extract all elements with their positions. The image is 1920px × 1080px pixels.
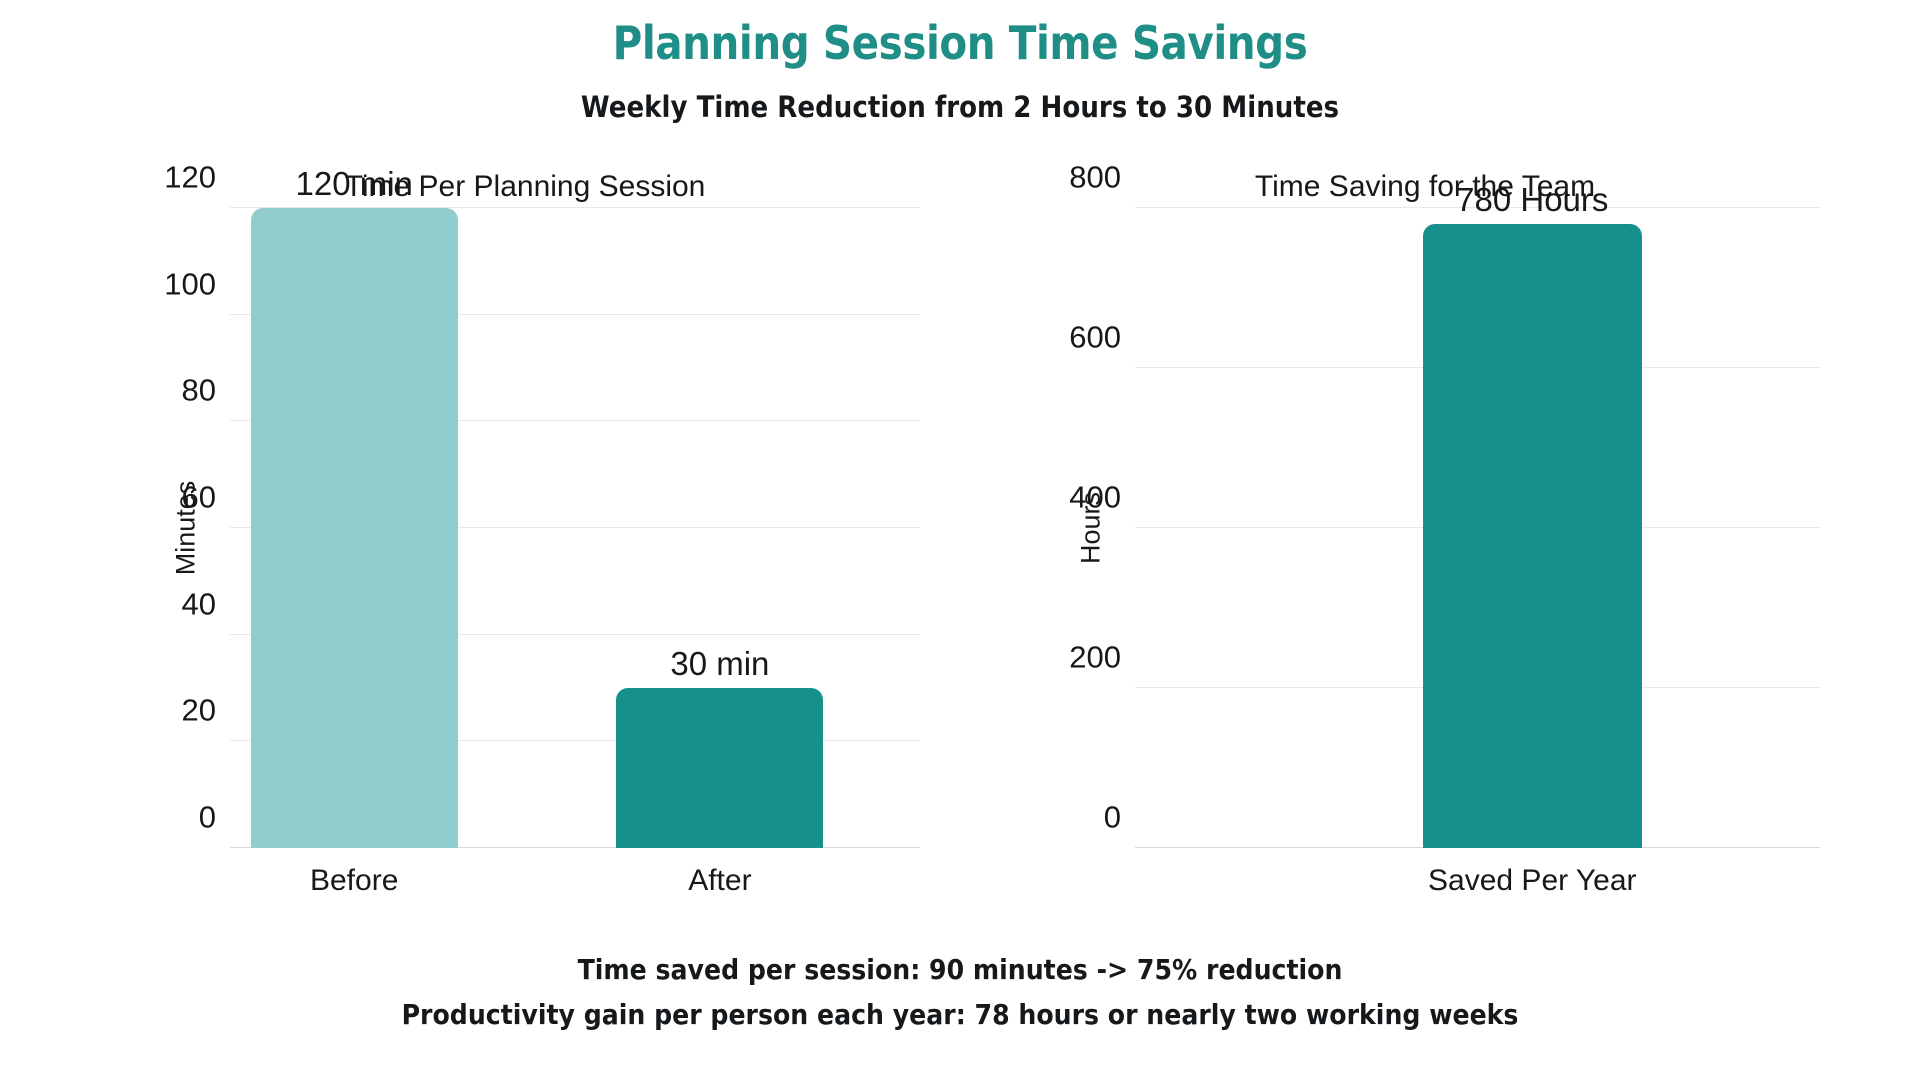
ytick-left-80: 80 — [182, 375, 216, 406]
chart-panel-team-saving: Time Saving for the Team 800 600 400 200… — [1020, 150, 1830, 930]
page-subtitle: Weekly Time Reduction from 2 Hours to 30… — [96, 90, 1824, 124]
bar-value-after: 30 min — [670, 647, 769, 680]
ytick-left-40: 40 — [182, 588, 216, 619]
ytick-right-200: 200 — [1069, 642, 1121, 673]
ytick-left-0: 0 — [199, 802, 216, 833]
ytick-right-600: 600 — [1069, 322, 1121, 353]
ytick-left-20: 20 — [182, 695, 216, 726]
chart-panel-time-per-session: Time Per Planning Session 120 100 80 60 … — [120, 150, 930, 930]
y-axis-label-hours: Hours — [1076, 492, 1107, 564]
ytick-right-800: 800 — [1069, 162, 1121, 193]
bar-saved-per-year[interactable]: 780 Hours Saved Per Year — [1423, 224, 1642, 848]
bar-value-before: 120 min — [295, 167, 412, 200]
footnote-productivity-gain: Productivity gain per person each year: … — [96, 993, 1824, 1038]
footnote-time-saved: Time saved per session: 90 minutes -> 75… — [96, 948, 1824, 993]
bar-before[interactable]: 120 min Before — [251, 208, 458, 848]
y-axis-label-minutes: Minutes — [171, 481, 202, 576]
plot-area-left: 120 100 80 60 40 20 0 Minutes 120 min Be… — [230, 208, 920, 848]
page-title: Planning Session Time Savings — [115, 16, 1805, 70]
ytick-right-0: 0 — [1104, 802, 1121, 833]
chart-title-right: Time Saving for the Team — [1020, 170, 1830, 204]
chart-page: Planning Session Time Savings Weekly Tim… — [0, 0, 1920, 1080]
footnotes: Time saved per session: 90 minutes -> 75… — [0, 948, 1920, 1038]
ytick-left-100: 100 — [164, 268, 216, 299]
bar-after[interactable]: 30 min After — [616, 688, 823, 848]
ytick-left-120: 120 — [164, 162, 216, 193]
plot-area-right: 800 600 400 200 0 Hours 780 Hours Saved … — [1135, 208, 1820, 848]
bar-value-saved: 780 Hours — [1456, 183, 1608, 216]
category-label-saved-per-year: Saved Per Year — [1428, 864, 1637, 898]
category-label-after: After — [688, 864, 751, 898]
category-label-before: Before — [310, 864, 398, 898]
chart-title-left: Time Per Planning Session — [120, 170, 930, 204]
